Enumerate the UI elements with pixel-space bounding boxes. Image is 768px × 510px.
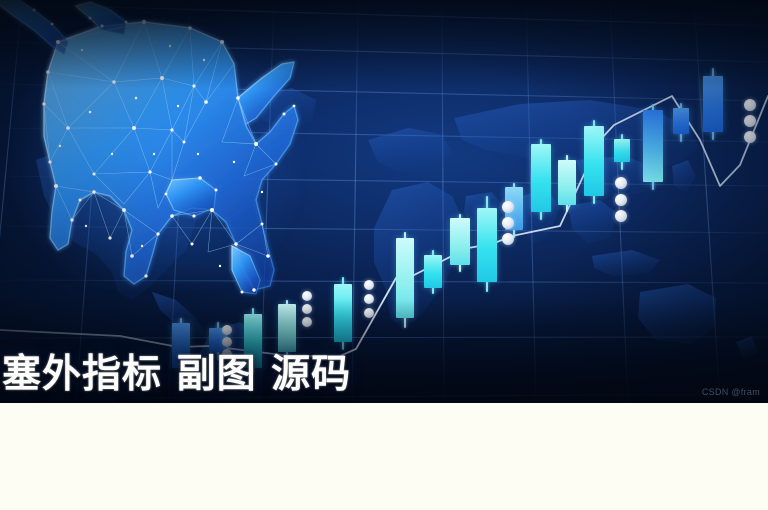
banner-title: 塞外指标 副图 源码 — [2, 352, 351, 398]
candle-body — [673, 108, 689, 134]
dot-marker — [615, 194, 627, 206]
candle-body — [703, 76, 723, 132]
banner-hero-image: 塞外指标 副图 源码 CSDN @fram — [0, 0, 768, 403]
candle-body — [396, 238, 414, 318]
candlestick — [643, 104, 663, 190]
candle-body — [643, 110, 663, 182]
page-root: 塞外指标 副图 源码 CSDN @fram — [0, 0, 768, 510]
candlestick — [450, 214, 470, 272]
candlestick — [673, 103, 689, 142]
candlestick — [614, 134, 630, 170]
candlestick — [334, 277, 352, 350]
dot-marker — [744, 99, 756, 111]
candlestick — [396, 232, 414, 328]
candle-body — [334, 284, 352, 342]
candle-body — [477, 208, 497, 282]
dot-marker — [744, 115, 756, 127]
candlestick — [477, 196, 497, 292]
dot-marker — [222, 325, 232, 335]
candlestick — [558, 155, 576, 212]
candlestick — [531, 139, 551, 220]
candle-body — [584, 126, 604, 196]
candle-body — [614, 139, 630, 162]
dot-marker — [364, 294, 374, 304]
dot-marker — [364, 308, 374, 318]
page-body-blank — [0, 403, 768, 510]
dot-marker — [615, 177, 627, 189]
candlestick — [584, 120, 604, 204]
csdn-watermark: CSDN @fram — [702, 387, 760, 397]
dot-marker — [364, 280, 374, 290]
candlestick — [424, 250, 442, 294]
dot-marker — [744, 131, 756, 143]
dot-marker — [502, 201, 514, 213]
dot-marker — [222, 337, 232, 347]
candle-body — [424, 255, 442, 288]
dot-marker — [615, 210, 627, 222]
bull-figure — [0, 0, 324, 314]
candlestick — [703, 68, 723, 140]
dot-marker — [502, 217, 514, 229]
dot-marker — [502, 233, 514, 245]
candle-body — [450, 218, 470, 265]
candle-body — [558, 160, 576, 205]
dot-marker — [302, 317, 312, 327]
candle-body — [531, 144, 551, 212]
